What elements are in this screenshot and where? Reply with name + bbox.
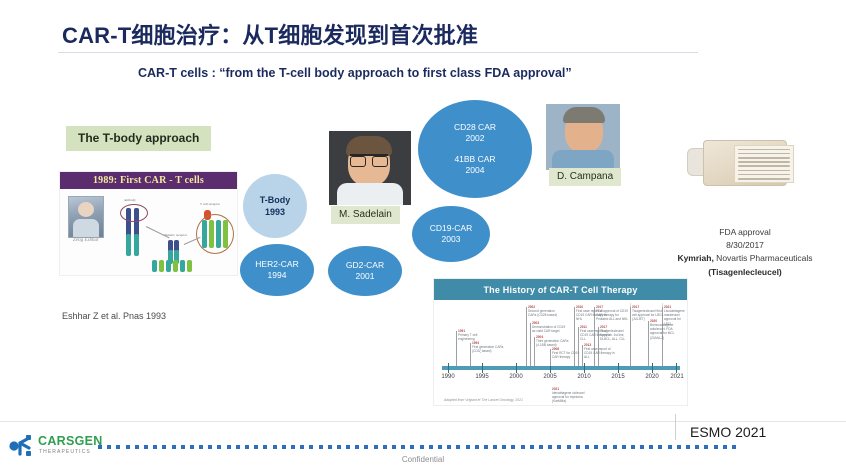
- fda-line-1: FDA approval: [660, 226, 830, 239]
- confidential-label: Confidential: [0, 455, 846, 464]
- eshhar-portrait-caption: Zelig Eshhar: [66, 238, 106, 243]
- circle-t-body-line2: 1993: [265, 206, 285, 218]
- kymriah-infusion-bag-image: [687, 140, 785, 188]
- circle-her2-line2: 1994: [268, 270, 287, 281]
- circle-cd19-line1: CD19-CAR: [430, 223, 473, 234]
- timeline-event-1: 1993 First generation CARs (CD3ζ based): [472, 341, 506, 353]
- timeline-event-5-text: First RCT for CD19 CAR therapy: [552, 351, 579, 359]
- fda-product-name: Kymriah,: [677, 253, 713, 263]
- timeline-event-9-text: FDA approval of CD19 CAR therapy for Ped…: [596, 309, 628, 321]
- fda-company: Novartis Pharmaceuticals: [714, 253, 813, 263]
- timeline-event-2: 2002 Second generation CARs (CD28 based): [528, 305, 562, 317]
- title-divider: [58, 52, 698, 53]
- timeline-year-2021: 2021: [670, 374, 683, 380]
- timeline-year-2010: 2010: [577, 374, 590, 380]
- timeline-event-4: 2004 Third generation CARs (4-1BB based): [536, 335, 570, 347]
- conference-divider: [675, 414, 676, 440]
- circle-gd2-car: GD2-CAR 2001: [328, 246, 402, 296]
- timeline-year-2005: 2005: [543, 374, 556, 380]
- sadelain-photo: [329, 131, 411, 205]
- footer-divider: [0, 421, 846, 422]
- timeline-axis: [442, 366, 680, 370]
- first-car-t-cells-figure: 1989: First CAR - T cells Zelig Eshhar a…: [59, 171, 238, 276]
- circle-cd28-41bb-car: CD28 CAR 2002 41BB CAR 2004: [418, 100, 532, 198]
- fda-line-2: 8/30/2017: [660, 239, 830, 252]
- footer-dotted-rule: [98, 443, 798, 451]
- circle-cd28-line1: CD28 CAR: [454, 122, 496, 133]
- page-title: CAR-T细胞治疗：从T细胞发现到首次批准: [62, 18, 478, 50]
- t-body-approach-tag: The T-body approach: [66, 126, 211, 151]
- circle-her2-line1: HER2-CAR: [255, 259, 298, 270]
- eshhar-portrait: [68, 196, 104, 238]
- timeline-event-3: 2003 Demonstration of CD19 as valid CAR …: [532, 321, 566, 333]
- conference-label: ESMO 2021: [690, 424, 766, 440]
- citation-eshhar: Eshhar Z et al. Pnas 1993: [62, 311, 166, 321]
- campana-name-tag: D. Campana: [549, 168, 621, 186]
- circle-gd2-line2: 2001: [356, 271, 375, 282]
- timeline-event-2-text: Second generation CARs (CD28 based): [528, 309, 557, 317]
- figure-header-1989: 1989: First CAR - T cells: [60, 172, 237, 189]
- timeline-event-9: 2017 FDA approval of CD19 CAR therapy fo…: [596, 305, 630, 322]
- timeline-event-3-text: Demonstration of CD19 as valid CAR targe…: [532, 325, 565, 333]
- page-subtitle: CAR-T cells : “from the T-cell body appr…: [138, 66, 572, 80]
- slide-canvas: CAR-T细胞治疗：从T细胞发现到首次批准 CAR-T cells : “fro…: [0, 0, 846, 470]
- timeline-event-0: 1991 Primary T cell engineering: [458, 329, 492, 341]
- timeline-year-1990: 1990: [441, 374, 454, 380]
- timeline-year-2000: 2000: [509, 374, 522, 380]
- circle-cd19-car: CD19-CAR 2003: [412, 206, 490, 262]
- timeline-year-1995: 1995: [475, 374, 488, 380]
- timeline-event-8-text: First case report of CD19 CAR therapy in…: [584, 347, 615, 359]
- campana-photo: [546, 104, 620, 170]
- sadelain-name-tag: M. Sadelain: [331, 206, 400, 224]
- circle-cd28-line2: 2002: [466, 133, 485, 144]
- circle-her2-car: HER2-CAR 1994: [240, 244, 314, 296]
- timeline-event-13-text: Lisocabtagene maraleucel approval for LB…: [664, 309, 685, 325]
- timeline-header: The History of CAR-T Cell Therapy: [434, 279, 687, 300]
- fda-approval-text: FDA approval 8/30/2017 Kymriah, Novartis…: [660, 226, 830, 279]
- timeline-event-13: 2021 Lisocabtagene maraleucel approval f…: [664, 305, 686, 326]
- timeline-source-caption: Adapted from Vrigiant et The Lancet Onco…: [444, 398, 523, 402]
- circle-gd2-line1: GD2-CAR: [346, 260, 384, 271]
- car-construct-diagram: antibody chimeric receptor T cell recept…: [112, 194, 234, 274]
- timeline-year-2015: 2015: [611, 374, 624, 380]
- circle-cd19-line2: 2003: [442, 234, 461, 245]
- fda-line-4: (Tisagenlecleucel): [660, 266, 830, 279]
- circle-41bb-line2: 2004: [466, 165, 485, 176]
- circle-t-body-line1: T-Body: [260, 194, 291, 206]
- timeline-event-14: 2021 Idecabtagene vicleucel approval for…: [552, 387, 586, 404]
- timeline-event-10: 2017 Tisagenlecleucel Kymriah: 1st line,…: [600, 325, 634, 342]
- timeline-event-10-text: Tisagenlecleucel Kymriah: 1st line, DLBC…: [600, 329, 625, 341]
- circle-41bb-line1: 41BB CAR: [454, 154, 495, 165]
- timeline-year-2020: 2020: [645, 374, 658, 380]
- timeline-event-1-text: First generation CARs (CD3ζ based): [472, 345, 503, 353]
- fda-line-3: Kymriah, Novartis Pharmaceuticals: [660, 252, 830, 265]
- circle-t-body: T-Body 1993: [243, 174, 307, 238]
- timeline-event-8: 2013 First case report of CD19 CAR thera…: [584, 343, 618, 360]
- history-of-car-t-timeline-figure: The History of CAR-T Cell Therapy 1990 1…: [433, 278, 688, 406]
- timeline-event-14-text: Idecabtagene vicleucel approval for myel…: [552, 391, 584, 403]
- carsgen-logo-wordmark: CARSGEN: [38, 434, 103, 448]
- timeline-event-5: 2008 First RCT for CD19 CAR therapy: [552, 347, 586, 359]
